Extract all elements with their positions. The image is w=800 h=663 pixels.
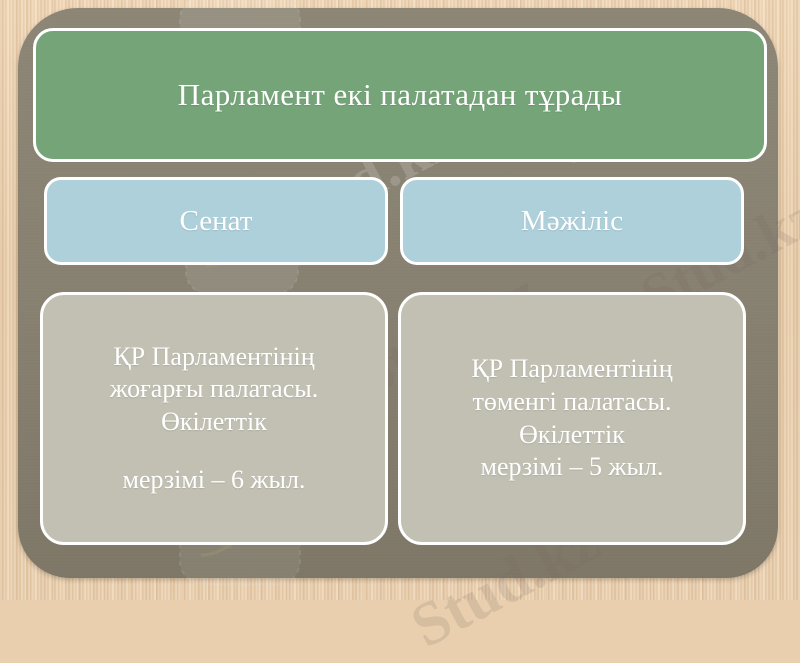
mazhilis-description: ҚР Парламентінің төменгі палатасы. Өкіле… [471,353,672,484]
senate-desc-line-2: жоғарғы палатасы. [110,373,318,406]
parliament-title-text: Парламент екі палатадан тұрады [178,77,622,114]
senate-description: ҚР Парламентінің жоғарғы палатасы. Өкіле… [110,341,318,497]
mazhilis-desc-line-1: ҚР Парламентінің [471,353,672,386]
chamber-senate-box: Сенат [44,177,388,265]
parliament-title-box: Парламент екі палатадан тұрады [33,28,767,162]
mazhilis-desc-line-2: төменгі палатасы. [471,386,672,419]
senate-desc-spacer [110,439,318,464]
mazhilis-desc-line-3: Өкілеттік [471,419,672,452]
chamber-mazhilis-box: Мәжіліс [400,177,744,265]
senate-desc-line-3: Өкілеттік [110,406,318,439]
mazhilis-desc-line-4: мерзімі – 5 жыл. [471,451,672,484]
senate-desc-line-1: ҚР Парламентінің [110,341,318,374]
chamber-senate-label: Сенат [180,204,253,238]
chamber-mazhilis-label: Мәжіліс [521,204,623,238]
chamber-mazhilis-description-box: ҚР Парламентінің төменгі палатасы. Өкіле… [398,292,746,545]
senate-desc-line-4: мерзімі – 6 жыл. [110,464,318,497]
chamber-senate-description-box: ҚР Парламентінің жоғарғы палатасы. Өкіле… [40,292,388,545]
